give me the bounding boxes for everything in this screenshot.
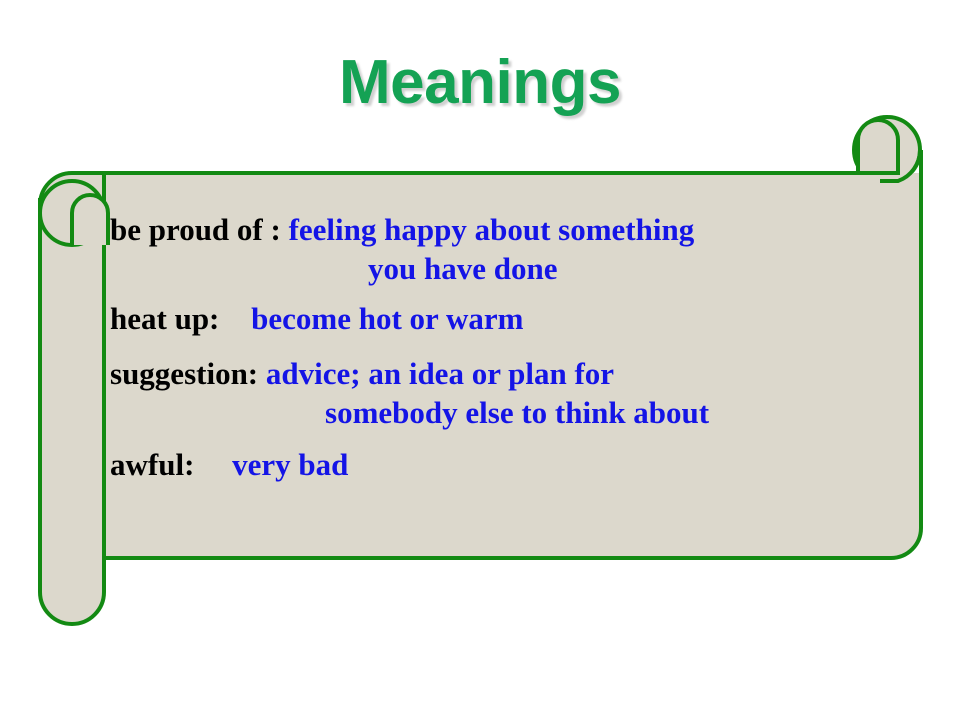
meaning-entry: heat up: become hot or warm (110, 297, 940, 340)
meaning-entry-line: heat up: become hot or warm (110, 297, 940, 340)
meaning-definition: become hot or warm (227, 301, 523, 336)
meaning-definition: advice; an idea or plan for (266, 356, 614, 391)
meaning-entry-line: suggestion: advice; an idea or plan for (110, 352, 940, 395)
meaning-definition-line2: somebody else to think about (110, 395, 940, 431)
meaning-definition: feeling happy about something (289, 212, 695, 247)
meaning-entry-line: be proud of : feeling happy about someth… (110, 208, 940, 251)
meaning-term: heat up: (110, 301, 219, 336)
scroll-topright-curl-hook (858, 120, 898, 173)
meaning-entry: awful: very bad (110, 443, 940, 486)
meaning-entry: suggestion: advice; an idea or plan for … (110, 352, 940, 431)
meaning-definition-line2: you have done (110, 251, 940, 287)
meaning-term: awful: (110, 447, 194, 482)
meaning-term: be proud of : (110, 212, 281, 247)
meaning-term: suggestion: (110, 356, 258, 391)
slide-canvas: Meanings be proud of : feeling happy abo… (0, 0, 960, 720)
meaning-definition: very bad (202, 447, 348, 482)
scroll-left-tongue (40, 200, 104, 624)
meaning-entry: be proud of : feeling happy about someth… (110, 208, 940, 287)
slide-title: Meanings (0, 52, 960, 114)
meaning-entry-line: awful: very bad (110, 443, 940, 486)
scroll-topleft-curl-hook (72, 195, 108, 245)
meanings-list: be proud of : feeling happy about someth… (110, 208, 940, 492)
